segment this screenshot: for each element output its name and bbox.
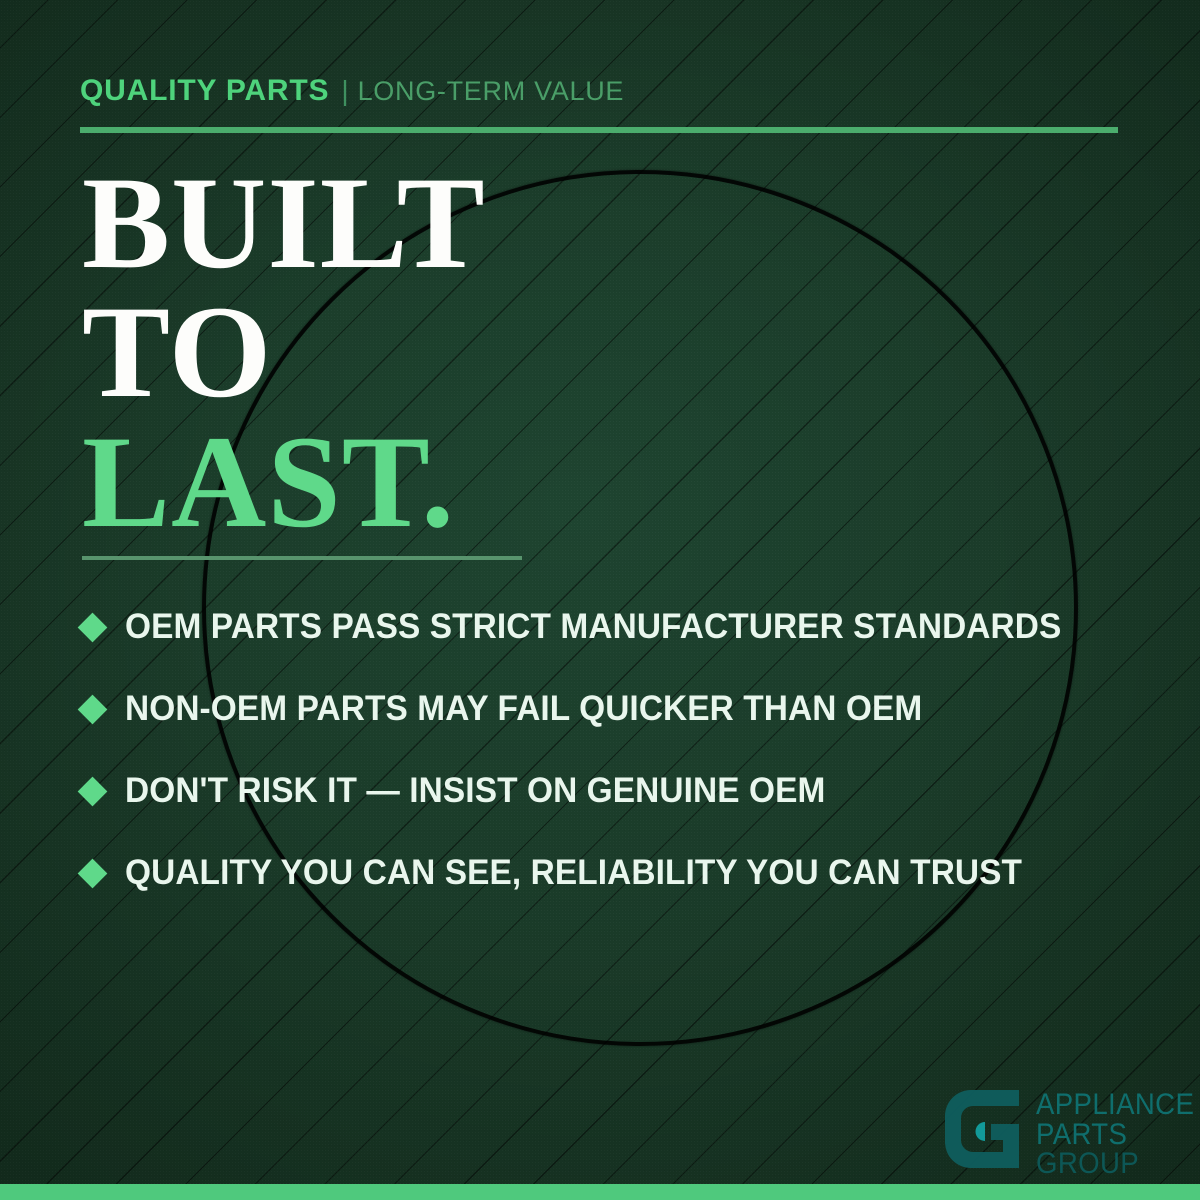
kicker-separator: |	[341, 75, 348, 107]
brand-logo: APPLIANCE PARTS GROUP	[941, 1086, 1200, 1179]
diamond-icon	[78, 858, 108, 888]
kicker-main-label: QUALITY PARTS	[80, 74, 329, 108]
list-item: DON'T RISK IT — INSIST ON GENUINE OEM	[80, 750, 1160, 832]
headline-line-2: TO	[82, 287, 486, 416]
list-item-label: NON-OEM PARTS MAY FAIL QUICKER THAN OEM	[125, 689, 922, 729]
brand-word-group: GROUP	[1036, 1149, 1194, 1179]
benefits-list: OEM PARTS PASS STRICT MANUFACTURER STAND…	[80, 586, 1160, 914]
poster-content: QUALITY PARTS | LONG-TERM VALUE BUILT TO…	[0, 0, 1200, 1200]
page-title: BUILT TO LAST.	[82, 158, 486, 546]
diamond-icon	[78, 776, 108, 806]
diamond-icon	[78, 694, 108, 724]
list-item-label: QUALITY YOU CAN SEE, RELIABILITY YOU CAN…	[125, 853, 1022, 893]
list-item: QUALITY YOU CAN SEE, RELIABILITY YOU CAN…	[80, 832, 1160, 914]
poster-canvas: QUALITY PARTS | LONG-TERM VALUE BUILT TO…	[0, 0, 1200, 1200]
headline-line-3: LAST.	[82, 417, 486, 546]
list-item-label: DON'T RISK IT — INSIST ON GENUINE OEM	[125, 771, 825, 811]
g-monogram-icon	[941, 1086, 1025, 1172]
headline-divider-rule	[82, 556, 522, 560]
diamond-icon	[78, 612, 108, 642]
list-item: NON-OEM PARTS MAY FAIL QUICKER THAN OEM	[80, 668, 1160, 750]
brand-logo-wordmark: APPLIANCE PARTS GROUP	[1036, 1086, 1200, 1179]
headline-line-1: BUILT	[82, 158, 486, 287]
kicker: QUALITY PARTS | LONG-TERM VALUE	[80, 74, 624, 108]
brand-word-parts: PARTS	[1036, 1120, 1194, 1150]
kicker-sub-label: LONG-TERM VALUE	[358, 76, 625, 107]
header-rule	[80, 127, 1118, 133]
list-item: OEM PARTS PASS STRICT MANUFACTURER STAND…	[80, 586, 1160, 668]
list-item-label: OEM PARTS PASS STRICT MANUFACTURER STAND…	[125, 607, 1061, 647]
bottom-accent-bar	[0, 1184, 1200, 1200]
brand-word-appliance: APPLIANCE	[1036, 1090, 1194, 1120]
